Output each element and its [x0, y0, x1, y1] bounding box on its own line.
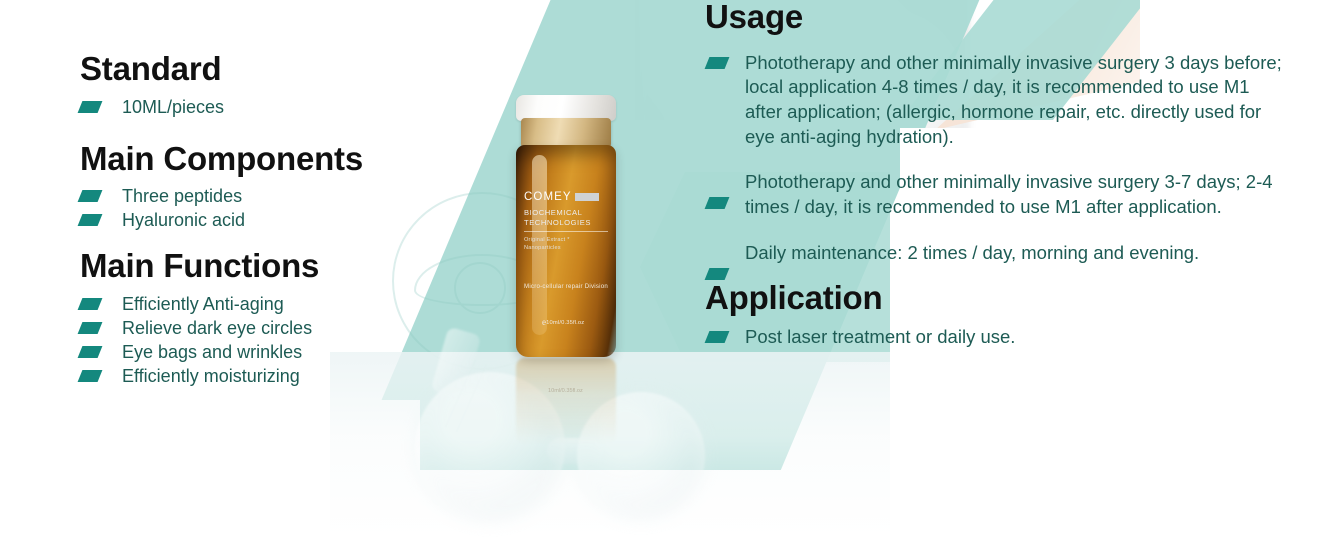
bottle-line-1: BIOCHEMICAL — [524, 208, 616, 218]
parallelogram-bullet-icon — [78, 370, 103, 382]
list-item-label: Relieve dark eye circles — [122, 318, 312, 338]
bottle-line-2: TECHNOLOGIES — [524, 218, 616, 228]
list-item: Efficiently moisturizing — [80, 365, 410, 389]
parallelogram-bullet-icon — [78, 298, 103, 310]
parallelogram-bullet-icon — [705, 57, 730, 69]
bottle-gold-cap — [521, 118, 611, 148]
parallelogram-bullet-icon — [705, 331, 730, 343]
left-text-column: Standard 10ML/pieces Main Components Thr… — [80, 52, 410, 388]
bottle-reflection-text: 10ml/0.35fl.oz — [548, 388, 583, 394]
list-item-label: Hyaluronic acid — [122, 210, 245, 230]
list-item-label: Eye bags and wrinkles — [122, 342, 302, 362]
list-item: 10ML/pieces — [80, 96, 410, 120]
usage-list: Phototherapy and other minimally invasiv… — [705, 51, 1285, 266]
parallelogram-bullet-icon — [705, 197, 730, 209]
parallelogram-bullet-icon — [78, 322, 103, 334]
bottle-label-rule — [524, 231, 608, 232]
main-components-list: Three peptides Hyaluronic acid — [80, 185, 410, 233]
bottle-volume: e10ml/0.35fl.oz — [542, 317, 584, 327]
section-heading-standard: Standard — [80, 52, 410, 87]
list-item: Post laser treatment or daily use. — [705, 325, 1285, 350]
list-item: Phototherapy and other minimally invasiv… — [705, 51, 1285, 150]
section-heading-application: Application — [705, 281, 1285, 316]
list-item: Hyaluronic acid — [80, 209, 410, 233]
list-item: Phototherapy and other minimally invasiv… — [705, 170, 1285, 219]
product-bottle: COMEY BIOCHEMICAL TECHNOLOGIES Original … — [508, 95, 624, 360]
list-item-label: Phototherapy and other minimally invasiv… — [745, 52, 1282, 147]
bottle-brand-bar — [575, 193, 599, 201]
list-item: Efficiently Anti-aging — [80, 293, 410, 317]
parallelogram-bullet-icon — [78, 214, 103, 226]
bottle-fine-2: Nanoparticles — [524, 245, 616, 253]
section-heading-usage: Usage — [705, 0, 1285, 35]
bottle-reflection — [516, 358, 616, 444]
list-item-label: Efficiently Anti-aging — [122, 294, 284, 314]
bottle-label: COMEY BIOCHEMICAL TECHNOLOGIES Original … — [524, 191, 616, 253]
bottle-volume-text: 10ml/0.35fl.oz — [546, 320, 584, 326]
parallelogram-bullet-icon — [78, 346, 103, 358]
list-item: Three peptides — [80, 185, 410, 209]
list-item-label: Post laser treatment or daily use. — [745, 326, 1015, 347]
parallelogram-bullet-icon — [78, 190, 103, 202]
section-heading-main-components: Main Components — [80, 142, 410, 177]
list-item-label: 10ML/pieces — [122, 97, 224, 117]
list-item-label: Phototherapy and other minimally invasiv… — [745, 171, 1273, 217]
bottle-brand: COMEY — [524, 191, 572, 203]
list-item-label: Three peptides — [122, 186, 242, 206]
list-item: Relieve dark eye circles — [80, 317, 410, 341]
list-item: Daily maintenance: 2 times / day, mornin… — [705, 241, 1285, 266]
application-list: Post laser treatment or daily use. — [705, 325, 1285, 350]
standard-list: 10ML/pieces — [80, 96, 410, 120]
main-functions-list: Efficiently Anti-aging Relieve dark eye … — [80, 293, 410, 389]
bottle-fine-1: Original Extract * — [524, 237, 616, 245]
parallelogram-bullet-icon — [78, 101, 103, 113]
right-text-column: Usage Phototherapy and other minimally i… — [705, 0, 1285, 350]
section-heading-main-functions: Main Functions — [80, 249, 410, 284]
list-item-label: Efficiently moisturizing — [122, 366, 300, 386]
bottle-division-text: Micro-cellular repair Division — [524, 283, 634, 290]
list-item: Eye bags and wrinkles — [80, 341, 410, 365]
list-item-label: Daily maintenance: 2 times / day, mornin… — [745, 242, 1199, 263]
